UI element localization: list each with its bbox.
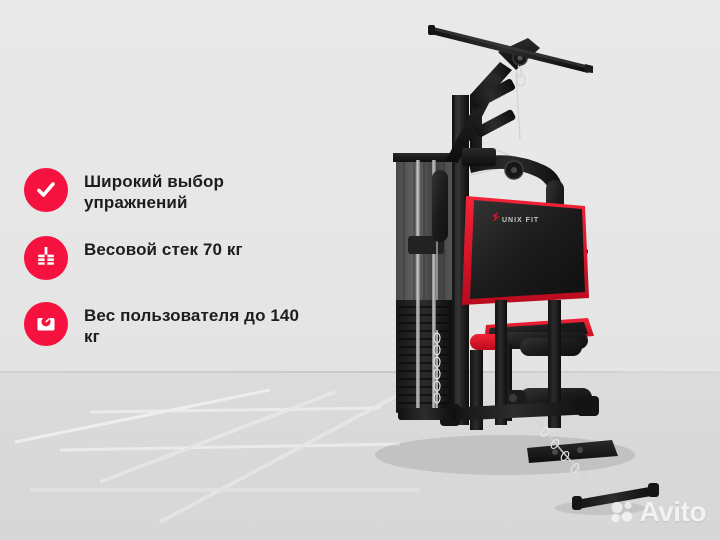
- scale-icon: [24, 302, 68, 346]
- checkmark-icon: [24, 168, 68, 212]
- lat-pulldown-bar: [428, 25, 593, 73]
- feature-item: Весовой стек 70 кг: [24, 236, 324, 280]
- product-image: UNIX FIT: [0, 0, 720, 540]
- feature-label: Весовой стек 70 кг: [84, 236, 243, 260]
- feature-label: Широкий выбор упражнений: [84, 168, 314, 214]
- feature-list: Широкий выбор упражнений Весовой стек 70…: [24, 168, 324, 369]
- avito-dots-logo: [609, 500, 635, 524]
- arm-pad-left: [432, 170, 448, 242]
- feature-item: Вес пользователя до 140 кг: [24, 302, 324, 348]
- weight-stack-icon: [24, 236, 68, 280]
- backrest: UNIX FIT: [462, 196, 589, 305]
- avito-wordmark: Avito: [640, 496, 706, 528]
- avito-watermark: Avito: [609, 496, 706, 528]
- feature-label: Вес пользователя до 140 кг: [84, 302, 314, 348]
- svg-text:UNIX FIT: UNIX FIT: [502, 217, 539, 224]
- weight-plates: [396, 300, 452, 412]
- feature-item: Широкий выбор упражнений: [24, 168, 324, 214]
